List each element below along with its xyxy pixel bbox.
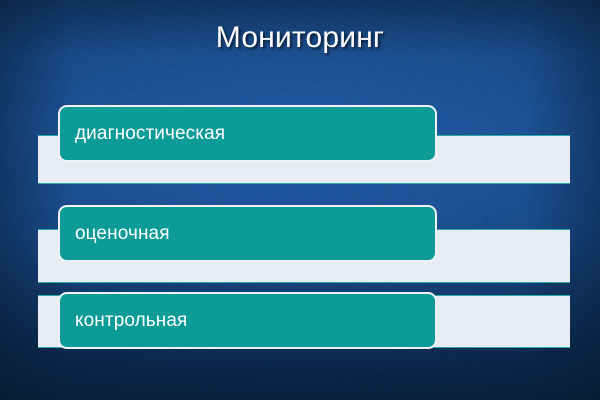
concept-chip-label: контрольная [60,310,187,332]
concept-chip-ocenochnaya[interactable]: оценочная [58,205,437,262]
concept-chip-label: оценочная [60,223,170,245]
page-title: Мониторинг [0,20,600,56]
concept-chip-label: диагностическая [60,123,225,145]
presentation-slide: Мониторинг диагностическая оценочная кон… [0,0,600,400]
concept-chip-diagnosticheskaya[interactable]: диагностическая [58,105,437,162]
concept-chip-kontrolnaya[interactable]: контрольная [58,292,437,349]
